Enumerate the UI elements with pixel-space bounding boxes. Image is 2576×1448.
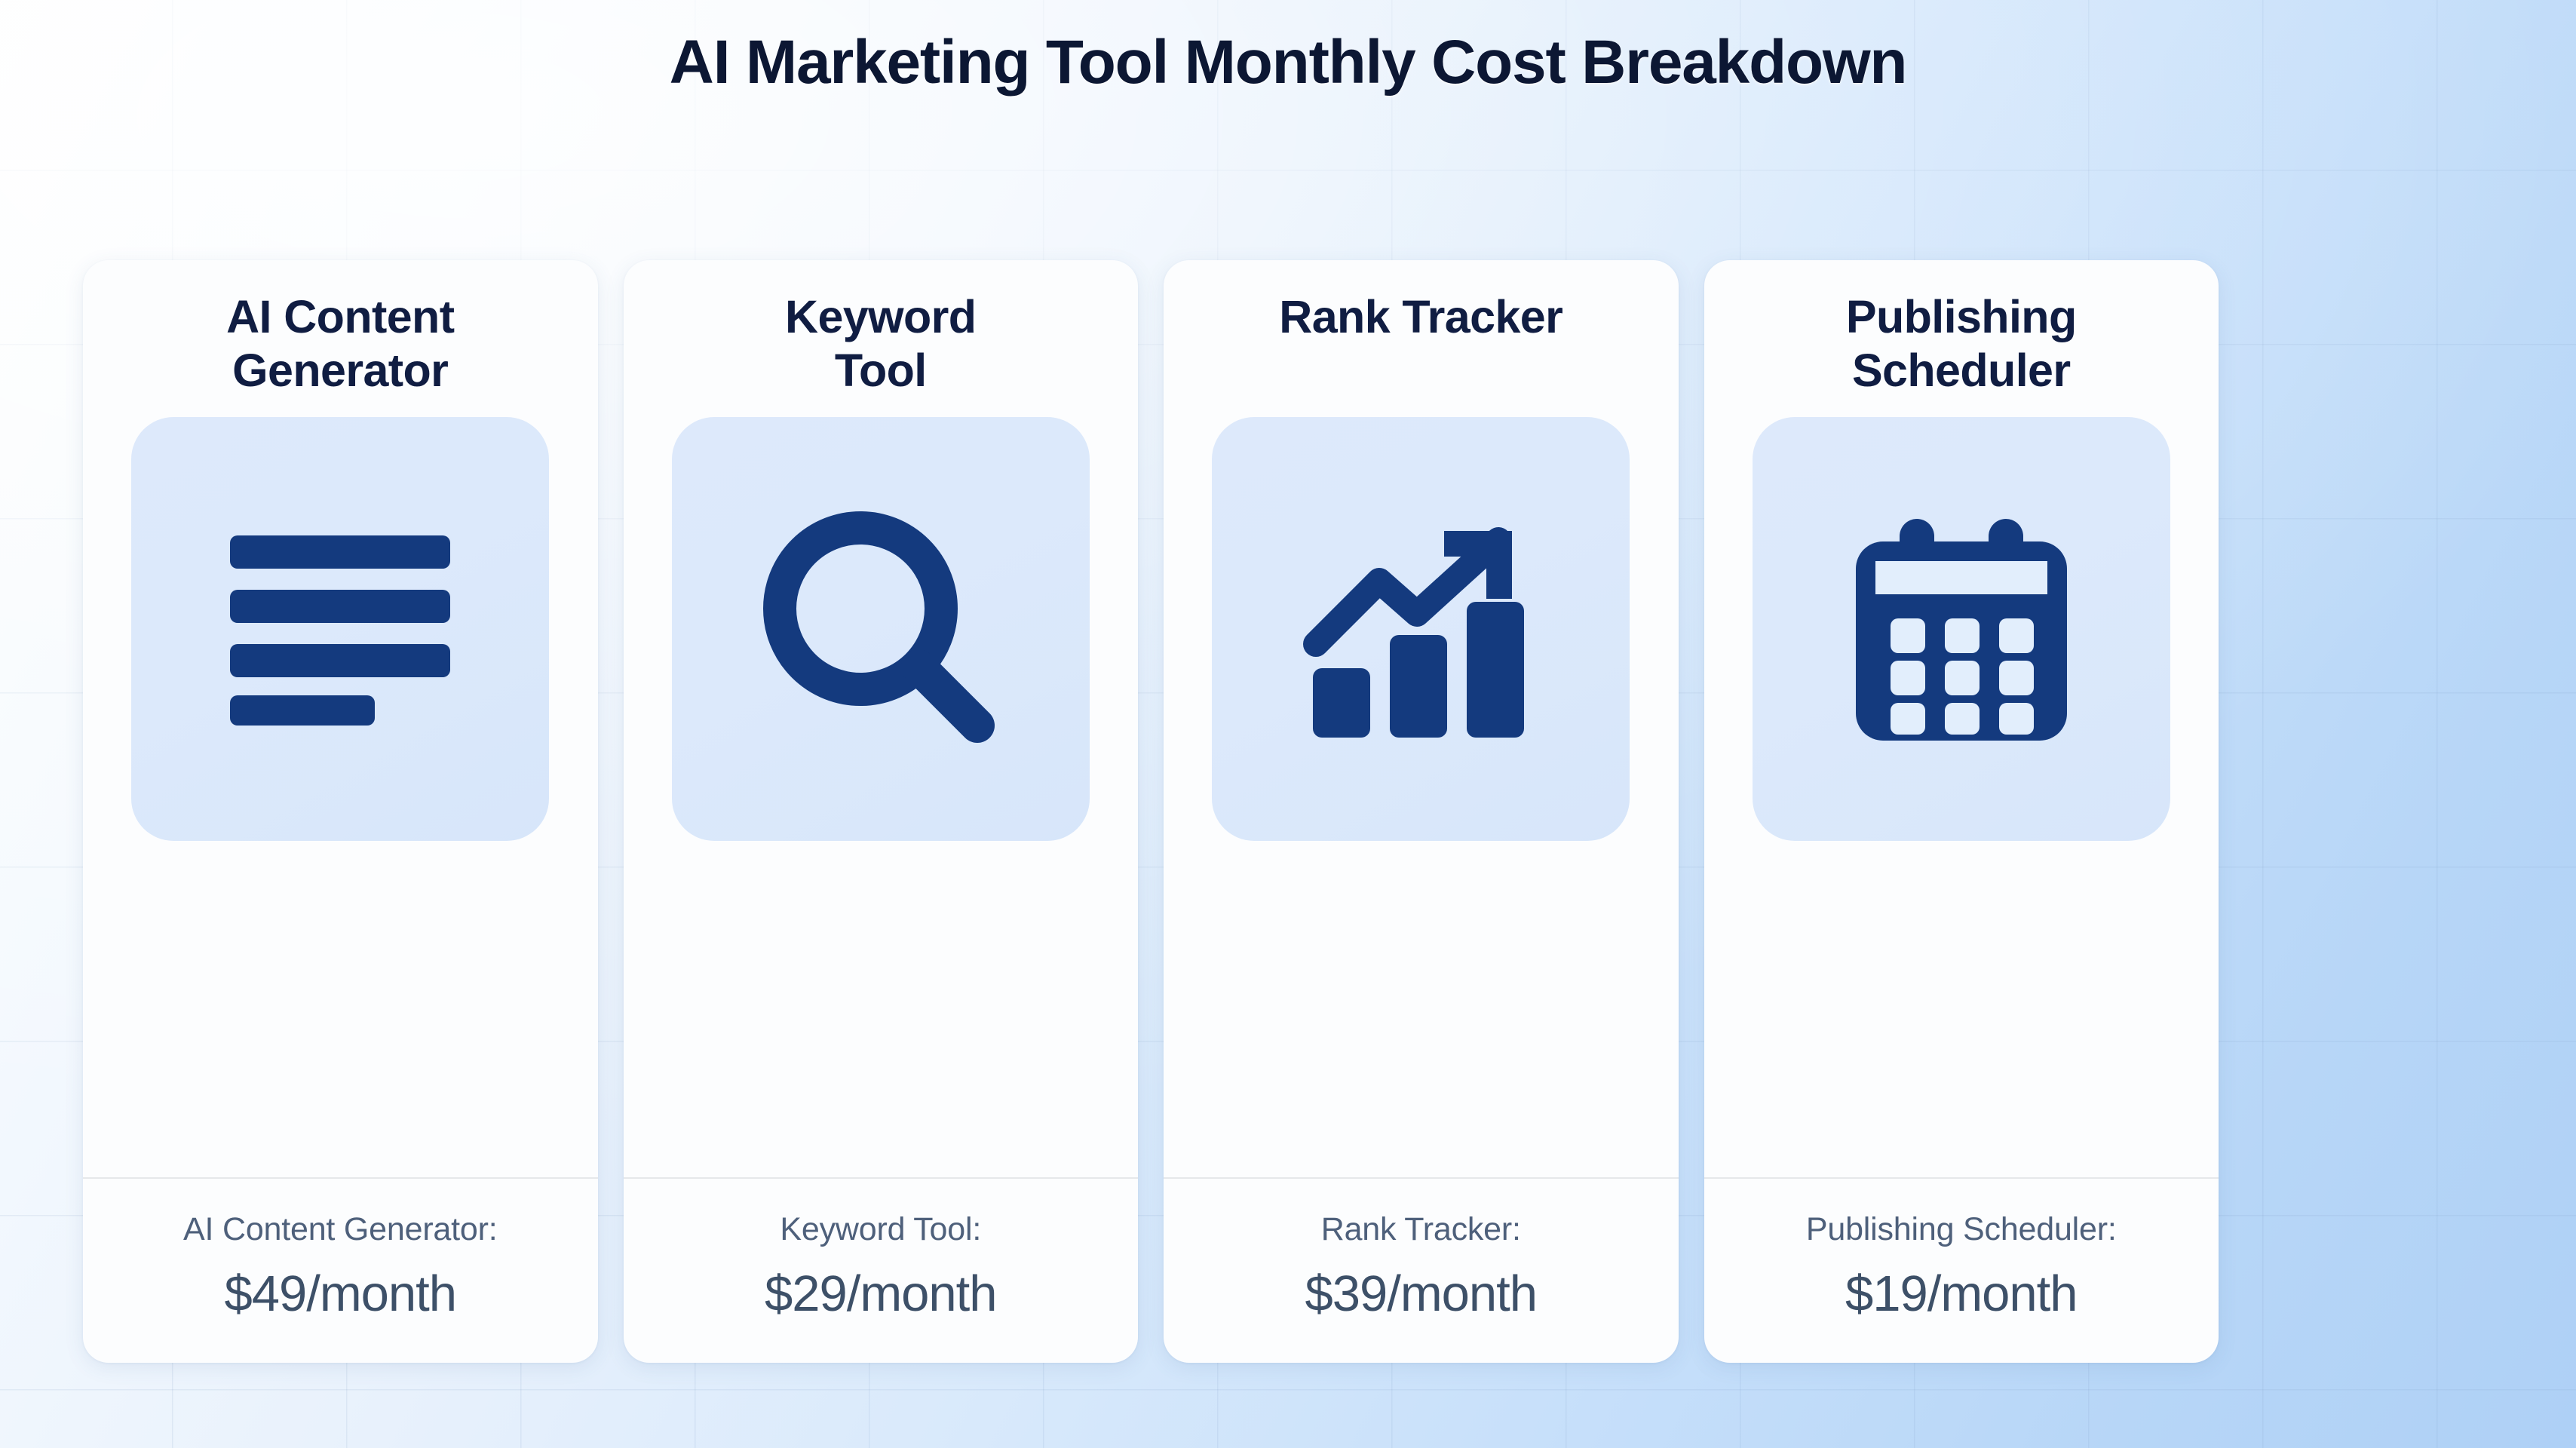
growth-chart-icon: [1296, 508, 1545, 750]
price-value: $19/month: [1715, 1268, 2209, 1321]
icon-tile: [1753, 417, 2170, 841]
page-title: AI Marketing Tool Monthly Cost Breakdown: [0, 27, 2576, 98]
pricing-card-rank-tracker[interactable]: Rank Tracker Rank Tracker: $39/month: [1164, 260, 1679, 1363]
document-lines-icon: [227, 531, 453, 727]
calendar-icon: [1844, 511, 2079, 747]
price-label: Rank Tracker:: [1174, 1212, 1668, 1247]
card-title-line2: Scheduler: [1718, 344, 2206, 397]
price-label: AI Content Generator:: [94, 1212, 587, 1247]
price-block: Rank Tracker: $39/month: [1164, 1179, 1679, 1363]
card-title-line1: Rank Tracker: [1177, 290, 1665, 344]
card-title: Keyword Tool: [624, 290, 1139, 405]
pricing-card-ai-content-generator[interactable]: AI Content Generator AI Content Generato…: [83, 260, 598, 1363]
price-value: $39/month: [1174, 1268, 1668, 1321]
price-block: Publishing Scheduler: $19/month: [1704, 1179, 2219, 1363]
price-block: Keyword Tool: $29/month: [624, 1179, 1139, 1363]
pricing-card-list: AI Content Generator AI Content Generato…: [83, 260, 2219, 1363]
pricing-card-publishing-scheduler[interactable]: Publishing Scheduler: [1704, 260, 2219, 1363]
card-title-line2: Tool: [637, 344, 1125, 397]
card-title-line2: Generator: [97, 344, 584, 397]
price-value: $49/month: [94, 1268, 587, 1321]
price-label: Keyword Tool:: [634, 1212, 1128, 1247]
card-title: AI Content Generator: [83, 290, 598, 405]
price-block: AI Content Generator: $49/month: [83, 1179, 598, 1363]
icon-tile: [672, 417, 1090, 841]
icon-tile: [1212, 417, 1630, 841]
price-value: $29/month: [634, 1268, 1128, 1321]
pricing-card-keyword-tool[interactable]: Keyword Tool Keyword Tool: $29/month: [624, 260, 1139, 1363]
card-title: Publishing Scheduler: [1704, 290, 2219, 405]
card-title-line1: AI Content: [97, 290, 584, 344]
magnifier-icon: [760, 508, 1001, 750]
card-title: Rank Tracker: [1164, 290, 1679, 405]
price-label: Publishing Scheduler:: [1715, 1212, 2209, 1247]
card-title-line1: Publishing: [1718, 290, 2206, 344]
icon-tile: [131, 417, 549, 841]
card-title-line1: Keyword: [637, 290, 1125, 344]
